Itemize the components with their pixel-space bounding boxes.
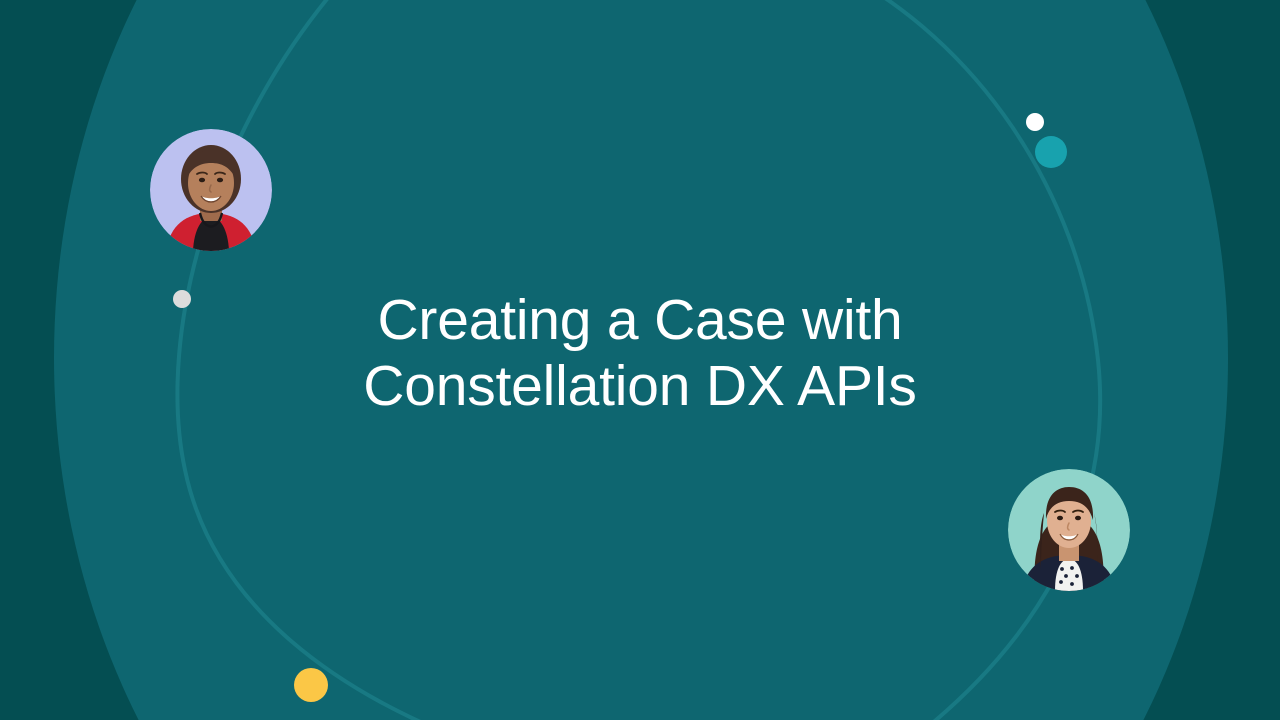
decorative-dot-white	[1026, 113, 1044, 131]
slide-title-line-2: Constellation DX APIs	[0, 353, 1280, 419]
decorative-dot-yellow	[294, 668, 328, 702]
avatar-presenter-one	[150, 129, 272, 251]
decorative-dot-grey	[173, 290, 191, 308]
title-slide: Creating a Case with Constellation DX AP…	[0, 0, 1280, 720]
slide-title-line-1: Creating a Case with	[0, 287, 1280, 353]
avatar-presenter-two	[1008, 469, 1130, 591]
decorative-dot-cyan	[1035, 136, 1067, 168]
avatar-presenter-two-image	[1008, 469, 1130, 591]
slide-title: Creating a Case with Constellation DX AP…	[0, 287, 1280, 419]
avatar-presenter-one-image	[150, 129, 272, 251]
